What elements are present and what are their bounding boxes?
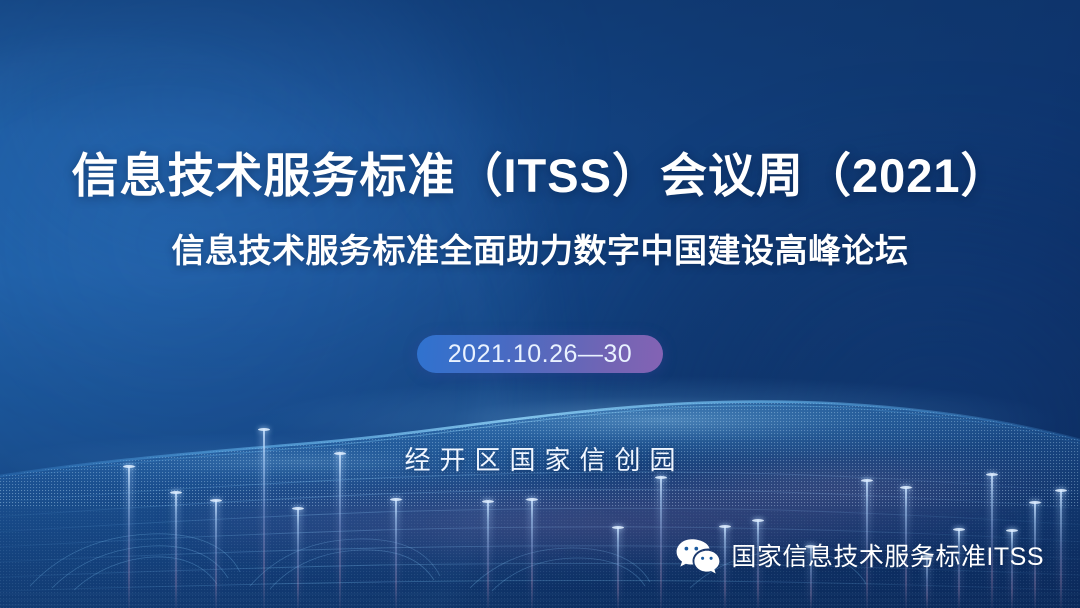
conference-poster: 信息技术服务标准（ITSS）会议周（2021） 信息技术服务标准全面助力数字中国… [0,0,1080,608]
date-badge-label: 2021.10.26—30 [448,335,632,373]
wechat-icon [676,538,720,576]
wechat-account-name: 国家信息技术服务标准ITSS [731,540,1044,574]
date-badge: 2021.10.26—30 [417,335,663,373]
venue-label: 经开区国家信创园 [0,441,1080,479]
subtitle: 信息技术服务标准全面助力数字中国建设高峰论坛 [0,229,1080,273]
wechat-account-row: 国家信息技术服务标准ITSS [676,538,1044,576]
poster-content: 信息技术服务标准（ITSS）会议周（2021） 信息技术服务标准全面助力数字中国… [0,0,1080,608]
main-title: 信息技术服务标准（ITSS）会议周（2021） [0,147,1080,205]
